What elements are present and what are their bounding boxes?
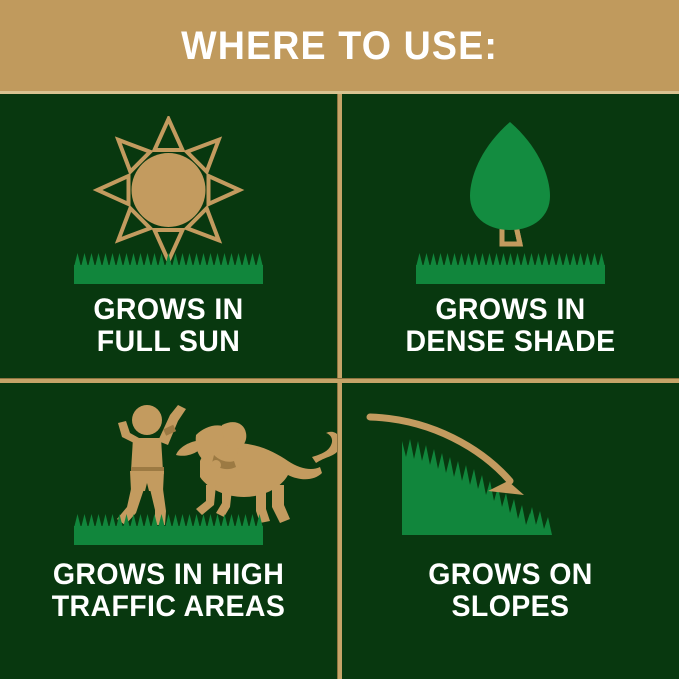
caption-line: TRAFFIC AREAS: [8, 591, 328, 623]
caption-line: FULL SUN: [8, 326, 328, 358]
panel-slopes: GROWS ON SLOPES: [342, 383, 679, 679]
caption-line: SLOPES: [350, 591, 670, 623]
panel-full-sun: GROWS IN FULL SUN: [0, 94, 337, 378]
grass-bar-dense-shade: [342, 252, 679, 284]
where-to-use-infographic: WHERE TO USE:: [0, 0, 679, 679]
header-bar: WHERE TO USE:: [0, 0, 679, 91]
sun-icon: [0, 116, 337, 264]
caption-dense-shade: GROWS IN DENSE SHADE: [350, 294, 670, 359]
divider-vertical: [337, 94, 342, 679]
caption-line: GROWS IN HIGH: [8, 559, 328, 591]
panel-high-traffic: GROWS IN HIGH TRAFFIC AREAS: [0, 383, 337, 679]
tree-icon: [342, 104, 679, 264]
sloped-grass-with-arrow-icon: [342, 403, 679, 548]
divider-horizontal: [0, 378, 679, 383]
panel-dense-shade: GROWS IN DENSE SHADE: [342, 94, 679, 378]
grass-bar-high-traffic: [0, 513, 337, 545]
grass-bar-full-sun: [0, 252, 337, 284]
panel-grid: GROWS IN FULL SUN: [0, 94, 679, 679]
caption-line: GROWS IN: [350, 294, 670, 326]
caption-slopes: GROWS ON SLOPES: [350, 559, 670, 624]
caption-line: GROWS IN: [8, 294, 328, 326]
page-title: WHERE TO USE:: [181, 26, 498, 66]
caption-full-sun: GROWS IN FULL SUN: [8, 294, 328, 359]
caption-high-traffic: GROWS IN HIGH TRAFFIC AREAS: [8, 559, 328, 624]
caption-line: GROWS ON: [350, 559, 670, 591]
caption-line: DENSE SHADE: [350, 326, 670, 358]
person-and-dog-icon: [0, 393, 337, 528]
